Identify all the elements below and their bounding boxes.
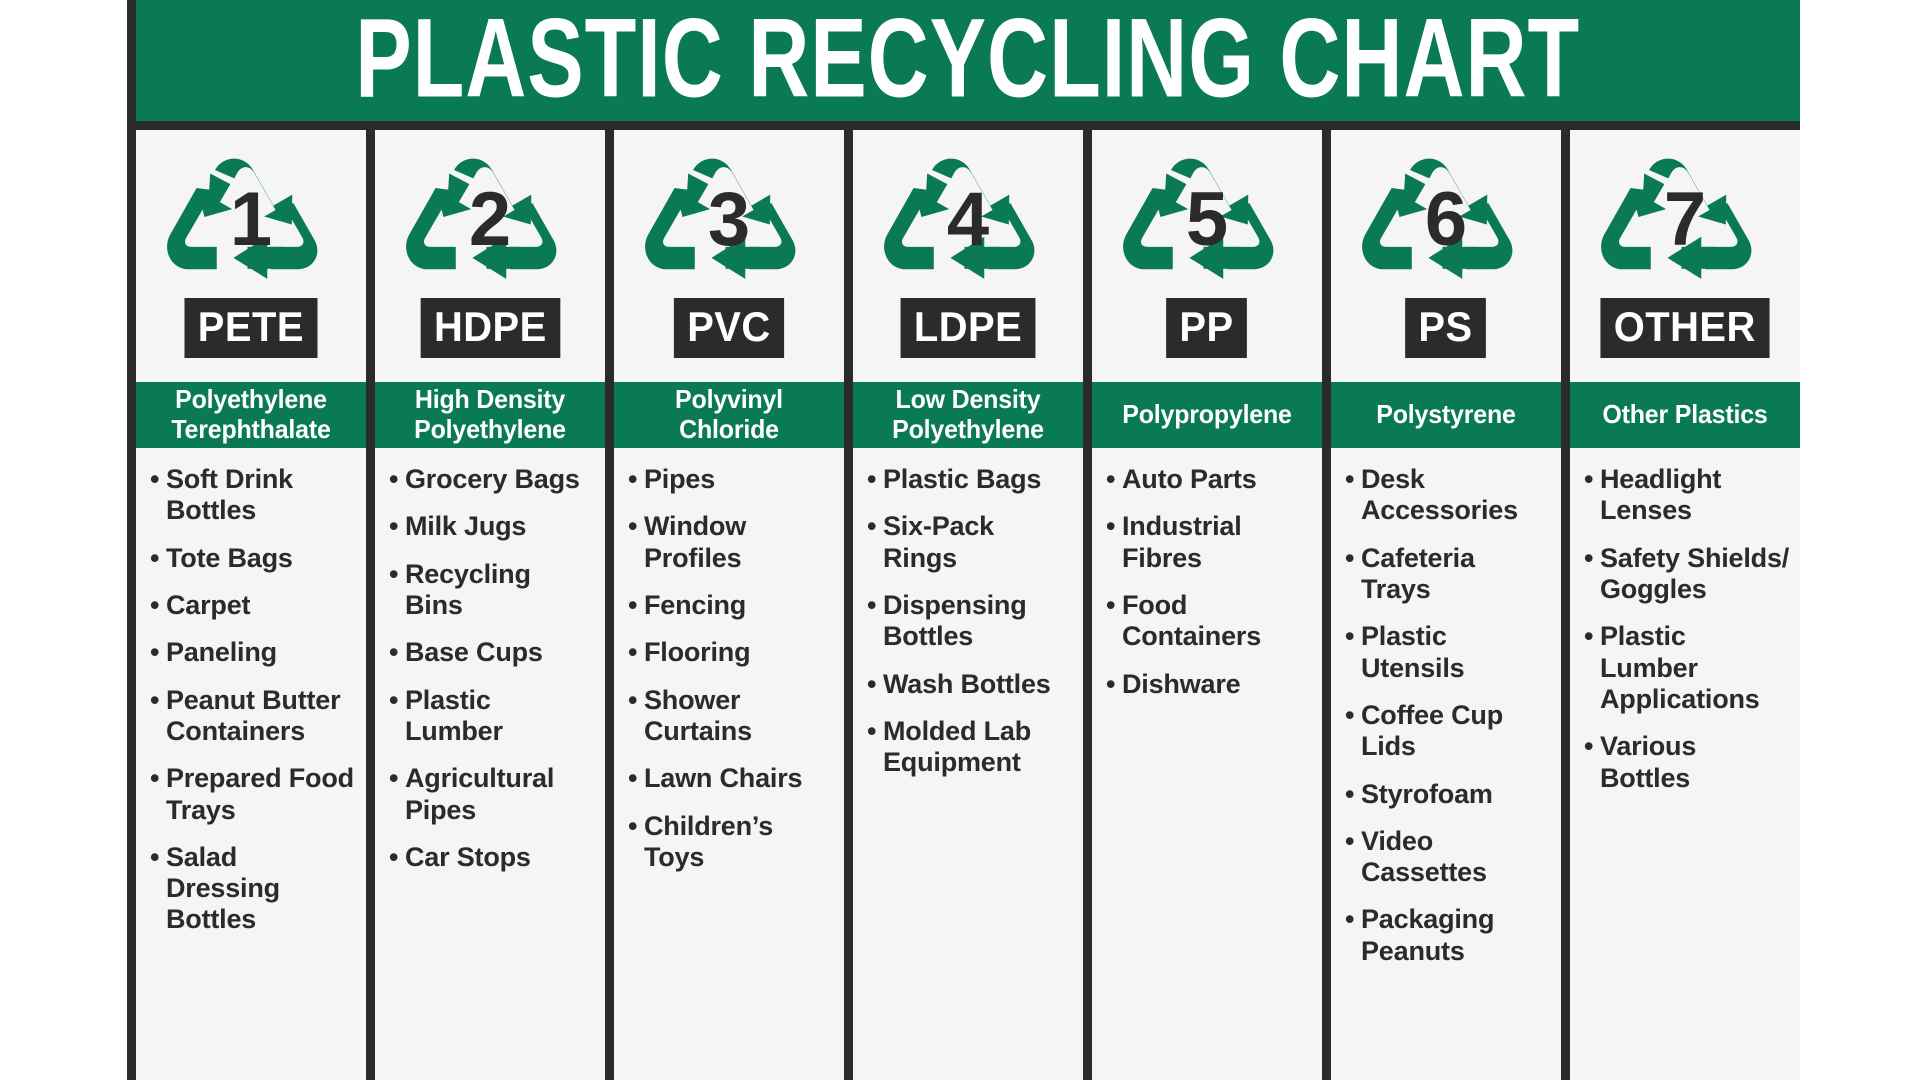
use-label: Wash Bottles (883, 669, 1073, 700)
common-uses-list: •Desk Accessories•Cafeteria Trays•Plasti… (1331, 448, 1561, 1080)
list-item: •Agricultural Pipes (389, 763, 595, 826)
symbol-zone: 5PP (1092, 130, 1322, 382)
recycling-mobius-icon: 1 (163, 138, 339, 296)
polymer-name-line: High Density (383, 385, 596, 415)
use-label: Car Stops (405, 842, 595, 873)
use-label: Prepared Food Trays (166, 763, 356, 826)
list-item: •Car Stops (389, 842, 595, 873)
recycling-mobius-icon: 6 (1358, 138, 1534, 296)
list-item: •Various Bottles (1584, 731, 1790, 794)
bullet-icon: • (150, 842, 166, 873)
bullet-icon: • (867, 669, 883, 700)
common-uses-list: •Soft Drink Bottles•Tote Bags•Carpet•Pan… (136, 448, 366, 1080)
resin-abbreviation-badge: PVC (674, 298, 784, 358)
use-label: Six-Pack Rings (883, 511, 1073, 574)
bullet-icon: • (1584, 621, 1600, 652)
bullet-icon: • (1345, 826, 1361, 857)
use-label: Paneling (166, 637, 356, 668)
bullet-icon: • (867, 511, 883, 542)
bullet-icon: • (867, 716, 883, 747)
bullet-icon: • (1345, 621, 1361, 652)
list-item: •Prepared Food Trays (150, 763, 356, 826)
resin-column-3: 3PVCPolyvinylChloride•Pipes•Window Profi… (614, 130, 844, 1080)
use-label: Headlight Lenses (1600, 464, 1790, 527)
polymer-name-band: PolyethyleneTerephthalate (136, 382, 366, 448)
list-item: •Milk Jugs (389, 511, 595, 542)
bullet-icon: • (1106, 669, 1122, 700)
list-item: •Lawn Chairs (628, 763, 834, 794)
resin-column-1: 1PETEPolyethyleneTerephthalate•Soft Drin… (136, 130, 366, 1080)
polymer-name-band: Polypropylene (1092, 382, 1322, 448)
use-label: Tote Bags (166, 543, 356, 574)
list-item: •Paneling (150, 637, 356, 668)
resin-code-columns: 1PETEPolyethyleneTerephthalate•Soft Drin… (127, 121, 1800, 1080)
symbol-zone: 4LDPE (853, 130, 1083, 382)
polymer-name-line: Polyethylene (861, 415, 1074, 445)
bullet-icon: • (150, 464, 166, 495)
bullet-icon: • (389, 511, 405, 542)
list-item: •Coffee Cup Lids (1345, 700, 1551, 763)
list-item: •Shower Curtains (628, 685, 834, 748)
resin-code-number: 3 (641, 182, 817, 258)
use-label: Dishware (1122, 669, 1312, 700)
common-uses-list: •Grocery Bags•Milk Jugs•Recycling Bins•B… (375, 448, 605, 1080)
bullet-icon: • (1345, 543, 1361, 574)
use-label: Window Profiles (644, 511, 834, 574)
polymer-name-band: Other Plastics (1570, 382, 1800, 448)
list-item: •Industrial Fibres (1106, 511, 1312, 574)
bullet-icon: • (628, 590, 644, 621)
use-label: Peanut Butter Containers (166, 685, 356, 748)
resin-abbreviation-badge: OTHER (1601, 298, 1770, 358)
use-label: Coffee Cup Lids (1361, 700, 1551, 763)
use-label: Safety Shields/ Goggles (1600, 543, 1790, 606)
polymer-name-line: Other Plastics (1578, 400, 1791, 430)
bullet-icon: • (389, 637, 405, 668)
use-label: Plastic Bags (883, 464, 1073, 495)
bullet-icon: • (628, 811, 644, 842)
list-item: •Cafeteria Trays (1345, 543, 1551, 606)
list-item: •Packaging Peanuts (1345, 904, 1551, 967)
list-item: •Wash Bottles (867, 669, 1073, 700)
bullet-icon: • (1345, 904, 1361, 935)
list-item: •Plastic Lumber (389, 685, 595, 748)
list-item: •Carpet (150, 590, 356, 621)
bullet-icon: • (150, 637, 166, 668)
list-item: •Dishware (1106, 669, 1312, 700)
bullet-icon: • (150, 543, 166, 574)
list-item: •Plastic Utensils (1345, 621, 1551, 684)
resin-column-6: 6PSPolystyrene•Desk Accessories•Cafeteri… (1331, 130, 1561, 1080)
bullet-icon: • (1345, 700, 1361, 731)
list-item: •Tote Bags (150, 543, 356, 574)
resin-code-number: 4 (880, 182, 1056, 258)
polymer-name-line: Low Density (861, 385, 1074, 415)
recycling-mobius-icon: 3 (641, 138, 817, 296)
use-label: Salad Dressing Bottles (166, 842, 356, 936)
bullet-icon: • (1584, 464, 1600, 495)
use-label: Carpet (166, 590, 356, 621)
use-label: Milk Jugs (405, 511, 595, 542)
recycling-mobius-icon: 5 (1119, 138, 1295, 296)
symbol-zone: 1PETE (136, 130, 366, 382)
list-item: •Six-Pack Rings (867, 511, 1073, 574)
polymer-name-band: High DensityPolyethylene (375, 382, 605, 448)
list-item: •Recycling Bins (389, 559, 595, 622)
recycling-mobius-icon: 2 (402, 138, 578, 296)
chart-title-banner: PLASTIC RECYCLING CHART (127, 0, 1800, 121)
bullet-icon: • (389, 464, 405, 495)
resin-abbreviation-badge: PP (1167, 298, 1248, 358)
resin-code-number: 1 (163, 182, 339, 258)
list-item: •Plastic Lumber Applications (1584, 621, 1790, 715)
bullet-icon: • (1345, 779, 1361, 810)
use-label: Flooring (644, 637, 834, 668)
recycling-mobius-icon: 4 (880, 138, 1056, 296)
bullet-icon: • (389, 842, 405, 873)
list-item: •Dispensing Bottles (867, 590, 1073, 653)
resin-abbreviation-badge: PETE (185, 298, 318, 358)
list-item: •Grocery Bags (389, 464, 595, 495)
resin-abbreviation-badge: HDPE (420, 298, 559, 358)
bullet-icon: • (150, 685, 166, 716)
recycling-mobius-icon: 7 (1597, 138, 1773, 296)
page-title: PLASTIC RECYCLING CHART (356, 2, 1581, 119)
bullet-icon: • (628, 763, 644, 794)
bullet-icon: • (389, 685, 405, 716)
use-label: Soft Drink Bottles (166, 464, 356, 527)
bullet-icon: • (150, 763, 166, 794)
list-item: •Peanut Butter Containers (150, 685, 356, 748)
bullet-icon: • (1345, 464, 1361, 495)
use-label: Pipes (644, 464, 834, 495)
common-uses-list: •Plastic Bags•Six-Pack Rings•Dispensing … (853, 448, 1083, 1080)
bullet-icon: • (389, 763, 405, 794)
resin-code-number: 5 (1119, 182, 1295, 258)
common-uses-list: •Headlight Lenses•Safety Shields/ Goggle… (1570, 448, 1800, 1080)
resin-code-number: 6 (1358, 182, 1534, 258)
bullet-icon: • (628, 637, 644, 668)
polymer-name-band: PolyvinylChloride (614, 382, 844, 448)
list-item: •Headlight Lenses (1584, 464, 1790, 527)
list-item: •Base Cups (389, 637, 595, 668)
use-label: Plastic Lumber Applications (1600, 621, 1790, 715)
list-item: •Molded Lab Equipment (867, 716, 1073, 779)
resin-abbreviation-badge: PS (1406, 298, 1487, 358)
list-item: •Desk Accessories (1345, 464, 1551, 527)
bullet-icon: • (867, 590, 883, 621)
symbol-zone: 7OTHER (1570, 130, 1800, 382)
use-label: Video Cassettes (1361, 826, 1551, 889)
use-label: Various Bottles (1600, 731, 1790, 794)
bullet-icon: • (1106, 511, 1122, 542)
bullet-icon: • (628, 464, 644, 495)
polymer-name-line: Polyvinyl (622, 385, 835, 415)
use-label: Children’s Toys (644, 811, 834, 874)
polymer-name-line: Terephthalate (144, 415, 357, 445)
list-item: •Soft Drink Bottles (150, 464, 356, 527)
bullet-icon: • (150, 590, 166, 621)
resin-column-7: 7OTHEROther Plastics•Headlight Lenses•Sa… (1570, 130, 1800, 1080)
use-label: Shower Curtains (644, 685, 834, 748)
resin-column-5: 5PPPolypropylene•Auto Parts•Industrial F… (1092, 130, 1322, 1080)
bullet-icon: • (628, 511, 644, 542)
use-label: Agricultural Pipes (405, 763, 595, 826)
polymer-name-line: Chloride (622, 415, 835, 445)
use-label: Plastic Utensils (1361, 621, 1551, 684)
resin-column-2: 2HDPEHigh DensityPolyethylene•Grocery Ba… (375, 130, 605, 1080)
resin-code-number: 7 (1597, 182, 1773, 258)
list-item: •Video Cassettes (1345, 826, 1551, 889)
polymer-name-line: Polyethylene (383, 415, 596, 445)
resin-column-4: 4LDPELow DensityPolyethylene•Plastic Bag… (853, 130, 1083, 1080)
symbol-zone: 6PS (1331, 130, 1561, 382)
list-item: •Salad Dressing Bottles (150, 842, 356, 936)
list-item: •Children’s Toys (628, 811, 834, 874)
common-uses-list: •Pipes•Window Profiles•Fencing•Flooring•… (614, 448, 844, 1080)
list-item: •Pipes (628, 464, 834, 495)
polymer-name-line: Polystyrene (1339, 400, 1552, 430)
use-label: Food Containers (1122, 590, 1312, 653)
use-label: Grocery Bags (405, 464, 595, 495)
bullet-icon: • (1106, 590, 1122, 621)
use-label: Auto Parts (1122, 464, 1312, 495)
bullet-icon: • (1584, 731, 1600, 762)
use-label: Desk Accessories (1361, 464, 1551, 527)
symbol-zone: 2HDPE (375, 130, 605, 382)
list-item: •Plastic Bags (867, 464, 1073, 495)
bullet-icon: • (389, 559, 405, 590)
use-label: Dispensing Bottles (883, 590, 1073, 653)
symbol-zone: 3PVC (614, 130, 844, 382)
plastic-recycling-chart: PLASTIC RECYCLING CHART 1PETEPolyethylen… (127, 0, 1800, 1080)
use-label: Packaging Peanuts (1361, 904, 1551, 967)
list-item: •Auto Parts (1106, 464, 1312, 495)
list-item: •Safety Shields/ Goggles (1584, 543, 1790, 606)
bullet-icon: • (628, 685, 644, 716)
use-label: Industrial Fibres (1122, 511, 1312, 574)
use-label: Recycling Bins (405, 559, 595, 622)
resin-abbreviation-badge: LDPE (901, 298, 1036, 358)
polymer-name-line: Polyethylene (144, 385, 357, 415)
use-label: Lawn Chairs (644, 763, 834, 794)
resin-code-number: 2 (402, 182, 578, 258)
bullet-icon: • (1584, 543, 1600, 574)
list-item: •Styrofoam (1345, 779, 1551, 810)
use-label: Plastic Lumber (405, 685, 595, 748)
list-item: •Fencing (628, 590, 834, 621)
list-item: •Food Containers (1106, 590, 1312, 653)
use-label: Molded Lab Equipment (883, 716, 1073, 779)
bullet-icon: • (867, 464, 883, 495)
use-label: Cafeteria Trays (1361, 543, 1551, 606)
polymer-name-line: Polypropylene (1100, 400, 1313, 430)
common-uses-list: •Auto Parts•Industrial Fibres•Food Conta… (1092, 448, 1322, 1080)
list-item: •Flooring (628, 637, 834, 668)
use-label: Fencing (644, 590, 834, 621)
polymer-name-band: Low DensityPolyethylene (853, 382, 1083, 448)
bullet-icon: • (1106, 464, 1122, 495)
use-label: Base Cups (405, 637, 595, 668)
polymer-name-band: Polystyrene (1331, 382, 1561, 448)
list-item: •Window Profiles (628, 511, 834, 574)
use-label: Styrofoam (1361, 779, 1551, 810)
